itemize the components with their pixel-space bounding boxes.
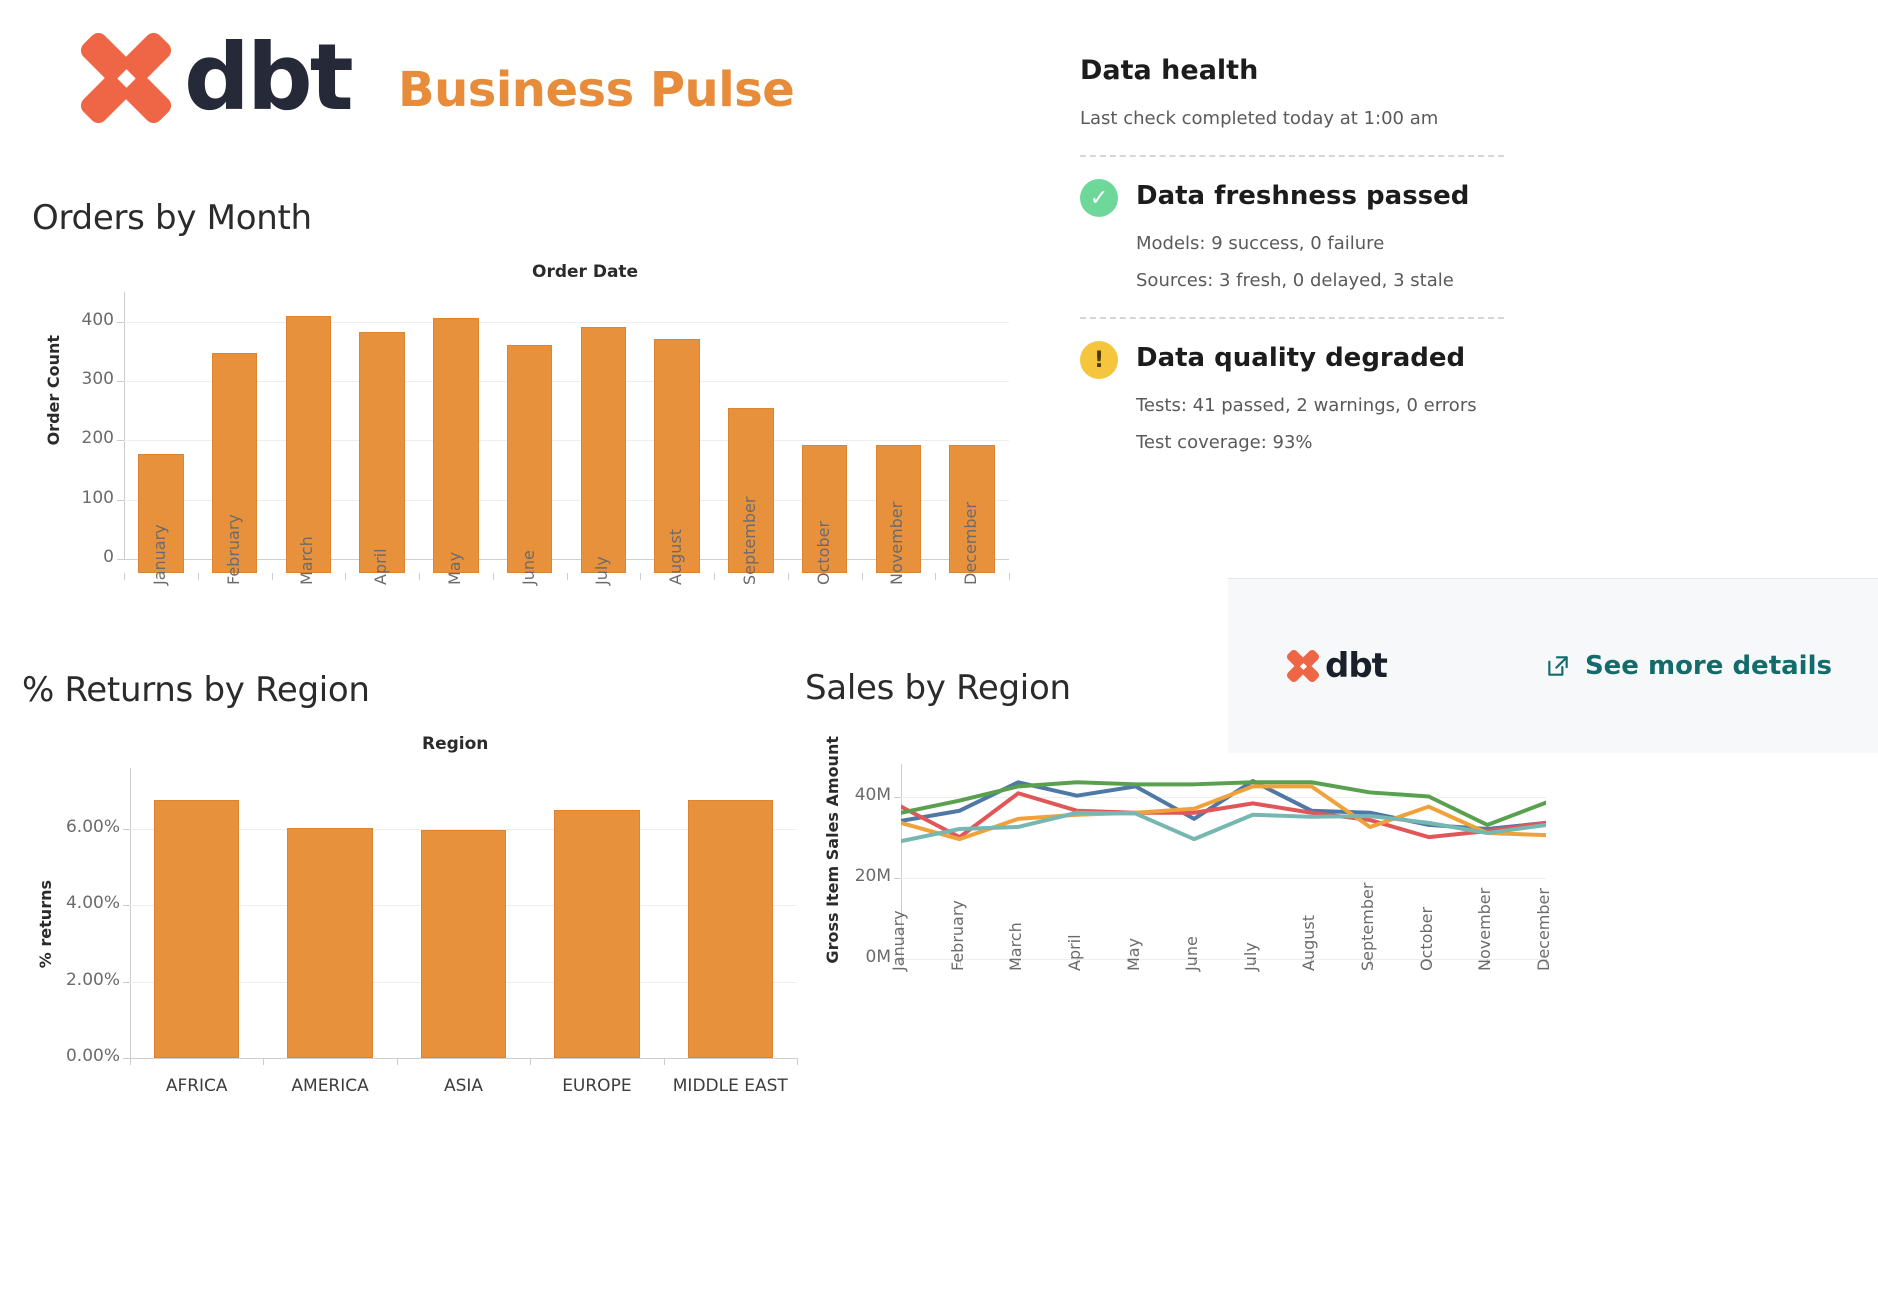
x-axis-tick-label: April — [1065, 934, 1084, 971]
dbt-logo: dbt — [78, 30, 351, 126]
x-axis-tick-label: March — [297, 536, 316, 585]
see-more-details-label: See more details — [1585, 651, 1832, 681]
returns-by-region-chart: Region % returns 0.00%2.00%4.00%6.00%AFR… — [22, 720, 812, 1100]
see-more-details-card: dbt See more details — [1228, 578, 1878, 753]
x-axis-tickmark — [263, 1058, 264, 1065]
x-axis-tickmark — [198, 573, 199, 580]
y-axis-tick-label: 40M — [819, 785, 891, 805]
see-more-details-link[interactable]: See more details — [1545, 651, 1832, 681]
exclamation-circle-icon: ! — [1080, 341, 1118, 379]
health-item-line: Test coverage: 93% — [1136, 432, 1840, 453]
bar[interactable] — [287, 828, 372, 1058]
x-axis-tickmark — [1009, 573, 1010, 580]
orders-by-month-chart: Order Date Order Count 0100200300400Janu… — [32, 250, 1022, 640]
bar[interactable] — [433, 318, 479, 573]
x-axis-tick-label: January — [150, 524, 169, 585]
x-axis-tick-label: MIDDLE EAST — [664, 1076, 797, 1096]
health-item-line: Models: 9 success, 0 failure — [1136, 233, 1840, 254]
y-axis-tick-label: 400 — [34, 310, 114, 330]
x-axis-tick-label: AFRICA — [130, 1076, 263, 1096]
y-axis-tickmark — [117, 381, 124, 382]
orders-chart-header: Order Date — [532, 262, 638, 282]
sales-plot-area: 0M20M40MAFRICAAMERICAASIAEUROPEMIDDLE EA… — [901, 764, 1546, 959]
dbt-wordmark: dbt — [184, 32, 351, 124]
x-axis-tick-label: April — [371, 548, 390, 585]
y-axis-tick-label: 0.00% — [40, 1046, 120, 1066]
y-axis-tickmark — [894, 797, 901, 798]
divider — [1080, 317, 1504, 319]
app-header: dbt Business Pulse — [0, 0, 1250, 175]
x-axis-tickmark — [493, 573, 494, 580]
x-axis-tick-label: October — [814, 521, 833, 585]
health-item-quality: ! Data quality degraded Tests: 41 passed… — [1080, 345, 1840, 453]
y-axis-tickmark — [123, 1058, 130, 1059]
y-axis-tick-label: 0M — [819, 947, 891, 967]
x-axis-tick-label: February — [224, 514, 243, 585]
data-health-title: Data health — [1080, 55, 1840, 86]
orders-plot-area: 0100200300400JanuaryFebruaryMarchAprilMa… — [124, 292, 1009, 559]
page-title: Business Pulse — [398, 62, 794, 118]
x-axis-tickmark — [862, 573, 863, 580]
bar[interactable] — [581, 327, 627, 573]
x-axis-tick-label: September — [1358, 883, 1377, 971]
x-axis-tickmark — [640, 573, 641, 580]
y-axis-tickmark — [117, 322, 124, 323]
x-axis-tick-label: November — [887, 502, 906, 585]
x-axis-tick-label: AMERICA — [263, 1076, 396, 1096]
x-axis-tick-label: July — [592, 556, 611, 585]
health-item-freshness: ✓ Data freshness passed Models: 9 succes… — [1080, 183, 1840, 291]
x-axis-tickmark — [935, 573, 936, 580]
bar[interactable] — [421, 830, 506, 1058]
health-item-line: Sources: 3 fresh, 0 delayed, 3 stale — [1136, 270, 1840, 291]
x-axis-tick-label: August — [666, 529, 685, 585]
check-circle-icon: ✓ — [1080, 179, 1118, 217]
line-series[interactable]: ASIA — [901, 782, 1546, 825]
bar[interactable] — [286, 316, 332, 573]
x-axis-tick-label: February — [948, 900, 967, 971]
x-axis-tick-label: August — [1299, 915, 1318, 971]
x-axis-tickmark — [567, 573, 568, 580]
gridline — [124, 322, 1009, 323]
bar[interactable] — [359, 332, 405, 573]
returns-chart-header: Region — [422, 734, 488, 754]
x-axis-tickmark — [664, 1058, 665, 1065]
y-axis-tickmark — [117, 500, 124, 501]
health-item-line: Tests: 41 passed, 2 warnings, 0 errors — [1136, 395, 1840, 416]
x-axis-tick-label: December — [1534, 888, 1553, 971]
line-series-group: AFRICAAMERICAASIAEUROPEMIDDLE EAST — [901, 764, 1546, 959]
returns-plot-area: 0.00%2.00%4.00%6.00%AFRICAAMERICAASIAEUR… — [130, 768, 797, 1058]
bar[interactable] — [688, 800, 773, 1058]
sales-section-title: Sales by Region — [805, 668, 1071, 708]
y-axis-tickmark — [117, 559, 124, 560]
x-axis-tickmark — [419, 573, 420, 580]
x-axis-tickmark — [130, 1058, 131, 1065]
y-axis-tickmark — [123, 905, 130, 906]
external-link-icon — [1545, 653, 1571, 679]
x-axis-tick-label: December — [961, 502, 980, 585]
health-item-title: Data freshness passed — [1136, 183, 1469, 210]
dbt-x-icon — [1286, 649, 1320, 683]
data-health-subtitle: Last check completed today at 1:00 am — [1080, 108, 1840, 129]
x-axis-tick-label: May — [445, 552, 464, 585]
dbt-wordmark: dbt — [1325, 646, 1387, 686]
y-axis-tickmark — [123, 982, 130, 983]
y-axis-line — [124, 292, 125, 559]
bar[interactable] — [507, 345, 553, 573]
health-item-title: Data quality degraded — [1136, 345, 1465, 372]
y-axis-tick-label: 2.00% — [40, 970, 120, 990]
x-axis-tickmark — [397, 1058, 398, 1065]
x-axis-tick-label: ASIA — [397, 1076, 530, 1096]
returns-section-title: % Returns by Region — [22, 670, 370, 710]
x-axis-tick-label: July — [1241, 942, 1260, 971]
y-axis-line — [130, 768, 131, 1058]
y-axis-tick-label: 0 — [34, 547, 114, 567]
y-axis-tick-label: 4.00% — [40, 893, 120, 913]
x-axis-tick-label: May — [1124, 938, 1143, 971]
data-health-panel: Data health Last check completed today a… — [1080, 55, 1840, 453]
x-axis-tick-label: June — [519, 550, 538, 585]
sales-y-axis-title: Gross Item Sales Amount — [823, 736, 842, 964]
dbt-x-icon — [78, 30, 174, 126]
bar[interactable] — [154, 800, 239, 1058]
x-axis-tickmark — [530, 1058, 531, 1065]
x-axis-tickmark — [345, 573, 346, 580]
y-axis-tick-label: 6.00% — [40, 817, 120, 837]
dbt-logo-small: dbt — [1286, 646, 1387, 686]
y-axis-tickmark — [894, 878, 901, 879]
y-axis-tickmark — [123, 829, 130, 830]
y-axis-tick-label: 300 — [34, 369, 114, 389]
x-axis-tick-label: October — [1417, 907, 1436, 971]
x-axis-tickmark — [272, 573, 273, 580]
x-axis-tick-label: November — [1475, 888, 1494, 971]
x-axis-tick-label: January — [889, 910, 908, 971]
x-axis-tickmark — [797, 1058, 798, 1065]
gridline — [901, 959, 1546, 960]
y-axis-tick-label: 100 — [34, 488, 114, 508]
x-axis-tick-label: March — [1006, 922, 1025, 971]
y-axis-tick-label: 20M — [819, 866, 891, 886]
bar[interactable] — [554, 810, 639, 1058]
x-axis-tickmark — [124, 573, 125, 580]
x-axis-tick-label: EUROPE — [530, 1076, 663, 1096]
sales-by-region-chart: Order Date Gross Item Sales Amount 0M20M… — [805, 724, 1865, 1104]
x-axis-tick-label: September — [740, 497, 759, 585]
y-axis-tickmark — [117, 440, 124, 441]
x-axis-tick-label: June — [1182, 936, 1201, 971]
orders-section-title: Orders by Month — [32, 198, 312, 238]
x-axis-tickmark — [788, 573, 789, 580]
y-axis-tick-label: 200 — [34, 428, 114, 448]
x-axis-line — [130, 1058, 797, 1059]
divider — [1080, 155, 1504, 157]
x-axis-tickmark — [714, 573, 715, 580]
